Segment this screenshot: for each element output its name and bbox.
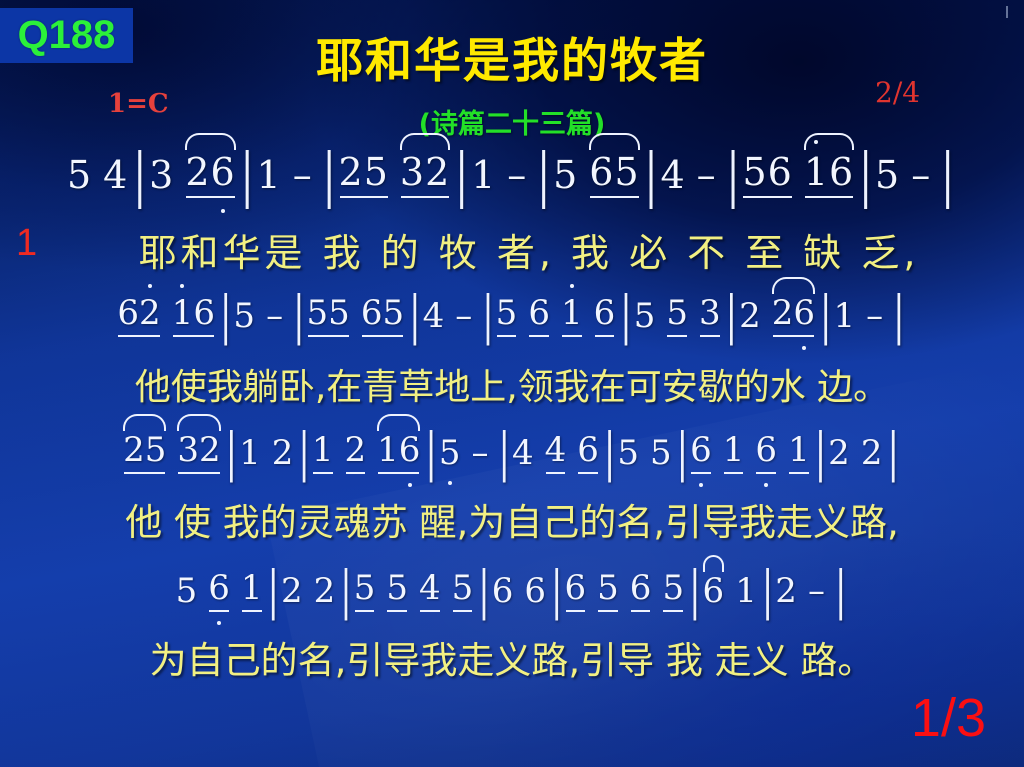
note-token: 2 (861, 433, 883, 473)
barline: | (941, 141, 955, 209)
slur-arc: 26 (185, 150, 235, 197)
note-digit: 6 (594, 293, 616, 333)
note-digit: 6 (211, 150, 236, 194)
beam-line: 6 (565, 568, 587, 611)
note-digit: 3 (149, 153, 174, 197)
note-token: 2 (345, 430, 367, 473)
note-token: 6 (630, 568, 652, 611)
beam-line: 16 (377, 430, 420, 473)
barline: | (478, 560, 489, 622)
note-dash: – (697, 153, 717, 197)
note-digit: 2 (272, 433, 294, 473)
beam-line: 6 (630, 568, 652, 611)
note-token: 6 (577, 430, 599, 473)
beam-line: 5 (386, 568, 408, 611)
note-token: 16 (377, 430, 420, 473)
note-token: 6 (492, 571, 514, 611)
note-token: 2 (739, 296, 761, 336)
note-digit: 6 (117, 293, 139, 333)
beam-line: 2 (345, 430, 367, 473)
beam-line: 25 (123, 430, 166, 473)
slur-arc: 25 (123, 430, 166, 473)
note-digit: 2 (185, 150, 210, 194)
beam-line: 6 (594, 293, 616, 336)
note-token: 5 (439, 433, 461, 473)
note-dash: – (866, 296, 883, 336)
note-digit: 2 (828, 433, 850, 473)
note-token: 6 (703, 571, 725, 611)
note-digit: 6 (630, 568, 652, 608)
note-digit: 2 (139, 293, 161, 333)
slur-arc: 32 (177, 430, 220, 473)
beam-line: 5 (666, 293, 688, 336)
key-signature: 1=C (108, 89, 169, 119)
note-token: 4 (512, 433, 534, 473)
note-digit: 1 (377, 430, 399, 470)
note-digit: 5 (617, 433, 639, 473)
note-digit: 2 (861, 433, 883, 473)
note-token: 62 (117, 293, 160, 336)
barline: | (645, 141, 659, 209)
note-token: 6 (565, 568, 587, 611)
note-token: 25 (123, 430, 166, 473)
note-token: 4 (545, 430, 567, 473)
lyric-line-4: 为自己的名,引导我走义路,引导 我 走义 路。 (0, 630, 1024, 684)
note-digit: 2 (739, 296, 761, 336)
note-digit: 5 (307, 293, 329, 333)
barline: | (226, 422, 237, 484)
note-token: 1 (241, 568, 263, 611)
note-digit: 1 (788, 430, 810, 470)
note-token: 1 (735, 571, 757, 611)
note-digit: 5 (875, 153, 900, 197)
note-digit: 4 (660, 153, 685, 197)
note-token: 5 (386, 568, 408, 611)
note-digit: 4 (419, 568, 441, 608)
barline: | (482, 285, 493, 347)
note-token: 26 (185, 150, 235, 197)
note-token: 56 (742, 150, 792, 197)
note-digit: 1 (239, 433, 261, 473)
beam-line: 6 (208, 568, 230, 611)
note-digit: 3 (400, 150, 425, 194)
note-token: 2 (314, 571, 336, 611)
note-token: 5 (67, 153, 92, 197)
note-digit: 2 (775, 571, 797, 611)
note-token: 1 (788, 430, 810, 473)
barline: | (620, 285, 631, 347)
note-digit: 1 (735, 571, 757, 611)
beam-line: 16 (804, 150, 854, 197)
note-digit: 6 (524, 571, 546, 611)
note-digit: 1 (172, 293, 194, 333)
note-token: 1 (257, 153, 282, 197)
page-number: 1/3 (911, 687, 986, 749)
barline: | (551, 560, 562, 622)
barline: | (820, 285, 831, 347)
slur-arc: 65 (589, 150, 639, 197)
note-token: 1 (312, 430, 334, 473)
note-dash: – (293, 153, 313, 197)
barline: | (677, 422, 688, 484)
lyric-line-2: 他使我躺卧,在青草地上,领我在可安歇的水 边。 (0, 358, 1024, 410)
note-digit: 4 (512, 433, 534, 473)
note-token: 25 (339, 150, 389, 197)
note-digit: 6 (829, 150, 854, 194)
note-digit: 5 (176, 571, 198, 611)
page-title: 耶和华是我的牧者 (0, 22, 1024, 91)
note-token: 4 (423, 296, 445, 336)
barline: | (133, 141, 147, 209)
beam-line: 65 (361, 293, 404, 336)
note-token: 32 (400, 150, 450, 197)
slur-arc: 6 (703, 571, 725, 611)
barline: | (604, 422, 615, 484)
beam-line: 1 (241, 568, 263, 611)
note-digit: 6 (589, 150, 614, 194)
note-token: 65 (589, 150, 639, 197)
beam-line: 1 (788, 430, 810, 473)
barline: | (455, 141, 469, 209)
note-token: 16 (804, 150, 854, 197)
note-token: 5 (662, 568, 684, 611)
note-token: 6 (208, 568, 230, 611)
note-digit: 3 (699, 293, 721, 333)
slur-arc: 16 (377, 430, 420, 473)
note-digit: 6 (690, 430, 712, 470)
note-digit: 2 (339, 150, 364, 194)
note-digit: 6 (565, 568, 587, 608)
barline: | (537, 141, 551, 209)
beam-line: 6 (755, 430, 777, 473)
beam-line: 5 (496, 293, 518, 336)
note-digit: 5 (328, 293, 350, 333)
beam-line: 5 (597, 568, 619, 611)
note-digit: 5 (364, 150, 389, 194)
beam-line: 25 (339, 150, 389, 197)
beam-line: 6 (690, 430, 712, 473)
note-token: 2 (272, 433, 294, 473)
corner-marker (1006, 6, 1008, 18)
note-token: 4 (660, 153, 685, 197)
beam-line: 65 (589, 150, 639, 197)
note-token: 5 (634, 296, 656, 336)
beam-line: 1 (723, 430, 745, 473)
slur-arc: 32 (400, 150, 450, 197)
barline: | (409, 285, 420, 347)
note-digit: 5 (650, 433, 672, 473)
beam-line: 5 (354, 568, 376, 611)
note-digit: 5 (354, 568, 376, 608)
note-digit: 2 (123, 430, 145, 470)
beam-line: 6 (577, 430, 599, 473)
note-token: 1 (723, 430, 745, 473)
slur-arc: 16 (804, 150, 854, 197)
note-digit: 1 (561, 293, 583, 333)
time-signature: 2/4 (875, 76, 920, 109)
beam-line: 5 (452, 568, 474, 611)
note-digit: 6 (492, 571, 514, 611)
note-digit: 6 (703, 571, 725, 611)
note-token: 4 (103, 153, 128, 197)
beam-line: 1 (312, 430, 334, 473)
note-digit: 1 (257, 153, 282, 197)
note-token: 6 (690, 430, 712, 473)
beam-line: 5 (662, 568, 684, 611)
note-digit: 2 (345, 430, 367, 470)
note-token: 5 (617, 433, 639, 473)
notation-line-2: 6216|5–|5565|4–|5616|553|226|1–| (0, 293, 1024, 336)
notation-line-4: 561|22|5545|66|6565|61|2–| (0, 568, 1024, 611)
note-digit: 1 (241, 568, 263, 608)
note-token: 1 (561, 293, 583, 336)
beam-line: 62 (117, 293, 160, 336)
note-token: 5 (650, 433, 672, 473)
note-digit: 1 (471, 153, 496, 197)
note-dash: – (472, 433, 489, 473)
note-digit: 1 (804, 150, 829, 194)
note-digit: 5 (597, 568, 619, 608)
barline: | (425, 422, 436, 484)
note-digit: 5 (145, 430, 167, 470)
note-token: 5 (496, 293, 518, 336)
note-digit: 4 (103, 153, 128, 197)
note-token: 3 (699, 293, 721, 336)
slur-arc: 26 (772, 293, 815, 336)
note-token: 5 (176, 571, 198, 611)
note-dash: – (507, 153, 527, 197)
note-digit: 5 (439, 433, 461, 473)
barline: | (293, 285, 304, 347)
note-digit: 5 (634, 296, 656, 336)
barline: | (815, 422, 826, 484)
note-digit: 6 (577, 430, 599, 470)
lyric-line-3: 他 使 我的灵魂苏 醒,为自己的名,引导我走义路, (0, 492, 1024, 546)
note-digit: 1 (312, 430, 334, 470)
note-token: 55 (307, 293, 350, 336)
note-digit: 5 (67, 153, 92, 197)
note-digit: 1 (833, 296, 855, 336)
note-digit: 2 (314, 571, 336, 611)
beam-line: 26 (185, 150, 235, 197)
barline: | (268, 560, 279, 622)
barline: | (323, 141, 337, 209)
note-digit: 5 (553, 153, 578, 197)
barline: | (220, 285, 231, 347)
note-token: 16 (172, 293, 215, 336)
note-token: 3 (149, 153, 174, 197)
note-token: 32 (177, 430, 220, 473)
note-token: 2 (828, 433, 850, 473)
beam-line: 3 (699, 293, 721, 336)
note-token: 26 (772, 293, 815, 336)
note-digit: 2 (199, 430, 221, 470)
note-digit: 5 (452, 568, 474, 608)
barline: | (340, 560, 351, 622)
barline: | (762, 560, 773, 622)
barline: | (241, 141, 255, 209)
note-token: 2 (775, 571, 797, 611)
beam-line: 4 (419, 568, 441, 611)
note-digit: 6 (768, 150, 793, 194)
beam-line: 6 (528, 293, 550, 336)
note-token: 6 (528, 293, 550, 336)
note-digit: 6 (755, 430, 777, 470)
note-token: 65 (361, 293, 404, 336)
note-dash: – (455, 296, 472, 336)
note-digit: 5 (233, 296, 255, 336)
lyric-line-1: 耶和华是 我 的 牧 者, 我 必 不 至 缺 乏, (0, 222, 1024, 277)
note-digit: 5 (496, 293, 518, 333)
note-dash: – (911, 153, 931, 197)
note-digit: 3 (177, 430, 199, 470)
beam-line: 56 (742, 150, 792, 197)
note-token: 6 (755, 430, 777, 473)
note-digit: 5 (382, 293, 404, 333)
note-digit: 5 (666, 293, 688, 333)
barline: | (893, 285, 904, 347)
notation-line-3: 2532|12|1216|5–|446|55|6161|22| (0, 430, 1024, 473)
notation-line-1: 54|326|1–|2532|1–|565|4–|5616|5–| (0, 150, 1024, 197)
note-token: 5 (233, 296, 255, 336)
note-digit: 1 (723, 430, 745, 470)
note-digit: 6 (361, 293, 383, 333)
note-digit: 5 (662, 568, 684, 608)
barline: | (689, 560, 700, 622)
beam-line: 55 (307, 293, 350, 336)
note-dash: – (266, 296, 283, 336)
note-token: 5 (597, 568, 619, 611)
note-digit: 4 (423, 296, 445, 336)
barline: | (727, 141, 741, 209)
note-digit: 6 (793, 293, 815, 333)
note-token: 5 (875, 153, 900, 197)
barline: | (859, 141, 873, 209)
beam-line: 32 (177, 430, 220, 473)
beam-line: 4 (545, 430, 567, 473)
note-digit: 2 (281, 571, 303, 611)
barline: | (726, 285, 737, 347)
note-digit: 6 (399, 430, 421, 470)
note-token: 5 (666, 293, 688, 336)
note-digit: 5 (386, 568, 408, 608)
note-digit: 5 (614, 150, 639, 194)
note-token: 5 (354, 568, 376, 611)
note-token: 6 (524, 571, 546, 611)
note-token: 1 (471, 153, 496, 197)
beam-line: 26 (772, 293, 815, 336)
note-digit: 4 (545, 430, 567, 470)
note-token: 2 (281, 571, 303, 611)
note-digit: 2 (425, 150, 450, 194)
note-token: 1 (239, 433, 261, 473)
note-digit: 5 (742, 150, 767, 194)
barline: | (835, 560, 846, 622)
beam-line: 1 (561, 293, 583, 336)
beam-line: 16 (172, 293, 215, 336)
barline: | (499, 422, 510, 484)
note-digit: 6 (208, 568, 230, 608)
note-token: 6 (594, 293, 616, 336)
note-token: 1 (833, 296, 855, 336)
note-token: 4 (419, 568, 441, 611)
note-digit: 2 (772, 293, 794, 333)
note-digit: 6 (528, 293, 550, 333)
note-dash: – (808, 571, 825, 611)
note-token: 5 (553, 153, 578, 197)
note-digit: 6 (193, 293, 215, 333)
hymn-slide: Q188 耶和华是我的牧者 (诗篇二十三篇) 1=C 2/4 1/3 54|32… (0, 0, 1024, 767)
beam-line: 32 (400, 150, 450, 197)
barline: | (887, 422, 898, 484)
note-token: 5 (452, 568, 474, 611)
barline: | (298, 422, 309, 484)
